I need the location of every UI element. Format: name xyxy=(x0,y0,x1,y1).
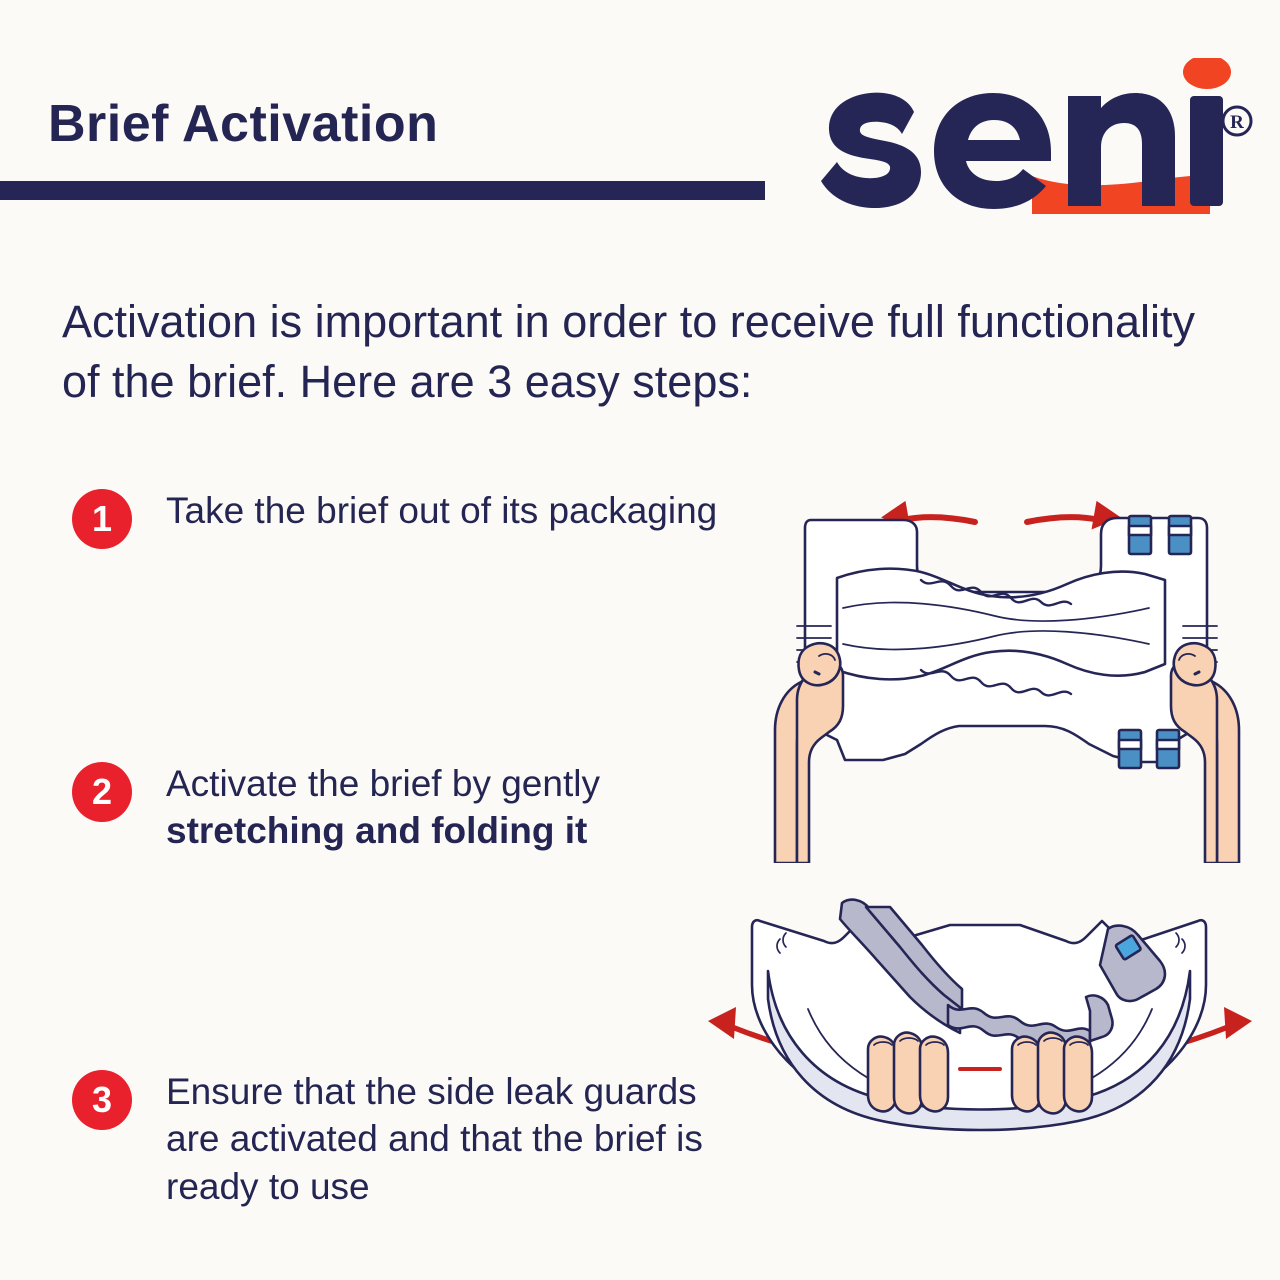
right-hand-icon xyxy=(1171,643,1239,863)
fastening-tab-bottom-1 xyxy=(1119,730,1141,768)
step-text-2-bold: stretching and folding it xyxy=(166,810,587,851)
logo-orange-wave-icon xyxy=(1032,174,1210,214)
step-text-3: Ensure that the side leak guards are act… xyxy=(166,1068,756,1210)
step-number-badge-1: 1 xyxy=(72,489,132,549)
left-hand-icon xyxy=(775,643,843,863)
left-hand-fingers-icon xyxy=(868,1033,948,1114)
left-thumb xyxy=(798,643,840,685)
right-hand-fingers-icon xyxy=(1012,1033,1092,1114)
logo-wordmark-icon xyxy=(821,58,1231,209)
fastening-tab-bottom-2 xyxy=(1157,730,1179,768)
folding-brief-illustration xyxy=(690,885,1270,1185)
step-number-badge-3: 3 xyxy=(72,1070,132,1130)
step-text-2-normal: Activate the brief by gently xyxy=(166,763,600,804)
logo-dot-icon xyxy=(1183,58,1231,89)
right-thumb xyxy=(1174,643,1216,685)
svg-text:R: R xyxy=(1230,112,1244,133)
step-item-1: 1 Take the brief out of its packaging xyxy=(72,487,717,549)
step-number-badge-2: 2 xyxy=(72,762,132,822)
fastening-tab-top-2 xyxy=(1169,516,1191,554)
steps-list: 1 Take the brief out of its packaging 2 … xyxy=(0,0,760,1280)
seni-logo: R xyxy=(818,58,1258,228)
step-item-2: 2 Activate the brief by gently stretchin… xyxy=(72,760,756,855)
step-text-1: Take the brief out of its packaging xyxy=(166,487,717,534)
step-text-2: Activate the brief by gently stretching … xyxy=(166,760,756,855)
stretching-brief-illustration xyxy=(745,468,1270,863)
fastening-tab-top-1 xyxy=(1129,516,1151,554)
registered-trademark-icon: R xyxy=(1223,107,1251,135)
step-item-3: 3 Ensure that the side leak guards are a… xyxy=(72,1068,756,1210)
infographic-page: Brief Activation xyxy=(0,0,1280,1280)
